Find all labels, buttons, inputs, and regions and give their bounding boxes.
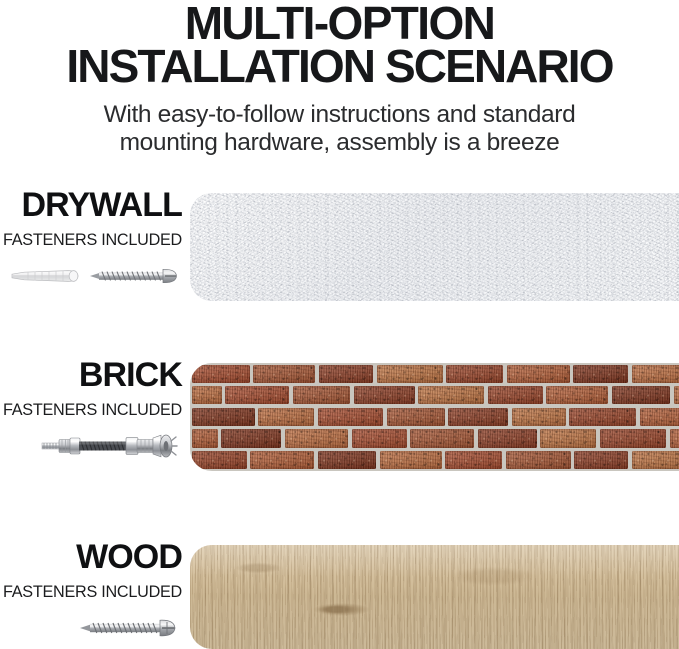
wood-screw-icon [78,616,180,640]
wood-labels: WOOD FASTENERS INCLUDED [0,540,186,643]
drywall-fastener-row [0,261,182,291]
brick-unit [488,386,543,404]
brick-unit [569,408,636,426]
drywall-labels: DRYWALL FASTENERS INCLUDED [0,188,186,291]
brick-unit [540,429,596,447]
section-drywall: DRYWALL FASTENERS INCLUDED [0,188,679,308]
brick-unit [573,365,628,383]
section-brick: BRICK FASTENERS INCLUDED [0,358,679,478]
brick-unit [674,386,679,404]
brick-unit [418,386,484,404]
brick-unit [446,365,503,383]
brick-unit [632,365,679,383]
brick-unit [507,365,570,383]
brick-unit [670,429,679,447]
brick-subtitle: FASTENERS INCLUDED [0,401,182,420]
headline-line-1: MULTI-OPTION [0,2,679,45]
drywall-anchor-icon [8,265,82,287]
brick-unit [285,429,348,447]
wood-surface-panel [190,545,679,649]
subheadline-line-1: With easy-to-follow instructions and sta… [0,101,679,130]
brick-unit [192,429,218,447]
brick-unit [293,386,350,404]
infographic-page: MULTI-OPTION INSTALLATION SCENARIO With … [0,0,679,649]
brick-unit [253,365,315,383]
brick-unit [352,429,407,447]
brick-unit [546,386,608,404]
brick-unit [512,408,566,426]
brick-row [190,363,679,385]
brick-unit [192,451,247,469]
brick-unit [192,386,222,404]
brick-unit [574,451,628,469]
brick-unit [225,386,289,404]
brick-unit [640,408,679,426]
brick-unit [319,365,373,383]
subheadline-line-2: mounting hardware, assembly is a breeze [0,129,679,158]
drywall-screw-icon [88,265,180,287]
header-block: MULTI-OPTION INSTALLATION SCENARIO With … [0,0,679,158]
wood-title: WOOD [0,540,182,574]
brick-fastener-row [0,431,182,461]
brick-row [190,406,679,428]
brick-row [190,449,679,471]
brick-unit [410,429,474,447]
brick-surface-panel [190,363,679,471]
brick-unit [354,386,415,404]
brick-unit [192,408,255,426]
brick-unit [600,429,666,447]
brick-unit [318,408,383,426]
brick-title: BRICK [0,358,182,392]
brick-unit [250,451,314,469]
brick-unit [377,365,443,383]
brick-labels: BRICK FASTENERS INCLUDED [0,358,186,461]
brick-row [190,428,679,450]
brick-unit [221,429,281,447]
brick-unit [192,365,250,383]
brick-unit [478,429,537,447]
brick-unit [632,451,679,469]
wood-subtitle: FASTENERS INCLUDED [0,583,182,602]
brick-unit [445,451,502,469]
brick-unit [318,451,376,469]
brick-pattern [190,363,679,471]
section-wood: WOOD FASTENERS INCLUDED [0,540,679,649]
brick-unit [258,408,314,426]
drywall-title: DRYWALL [0,188,182,222]
brick-unit [387,408,445,426]
drywall-surface-panel [190,193,679,301]
wood-fastener-row [0,613,182,643]
headline-line-2: INSTALLATION SCENARIO [0,45,679,88]
sleeve-anchor-icon [40,429,180,463]
brick-unit [612,386,670,404]
brick-row [190,385,679,407]
brick-unit [448,408,508,426]
brick-unit [506,451,571,469]
brick-unit [380,451,442,469]
drywall-subtitle: FASTENERS INCLUDED [0,231,182,250]
